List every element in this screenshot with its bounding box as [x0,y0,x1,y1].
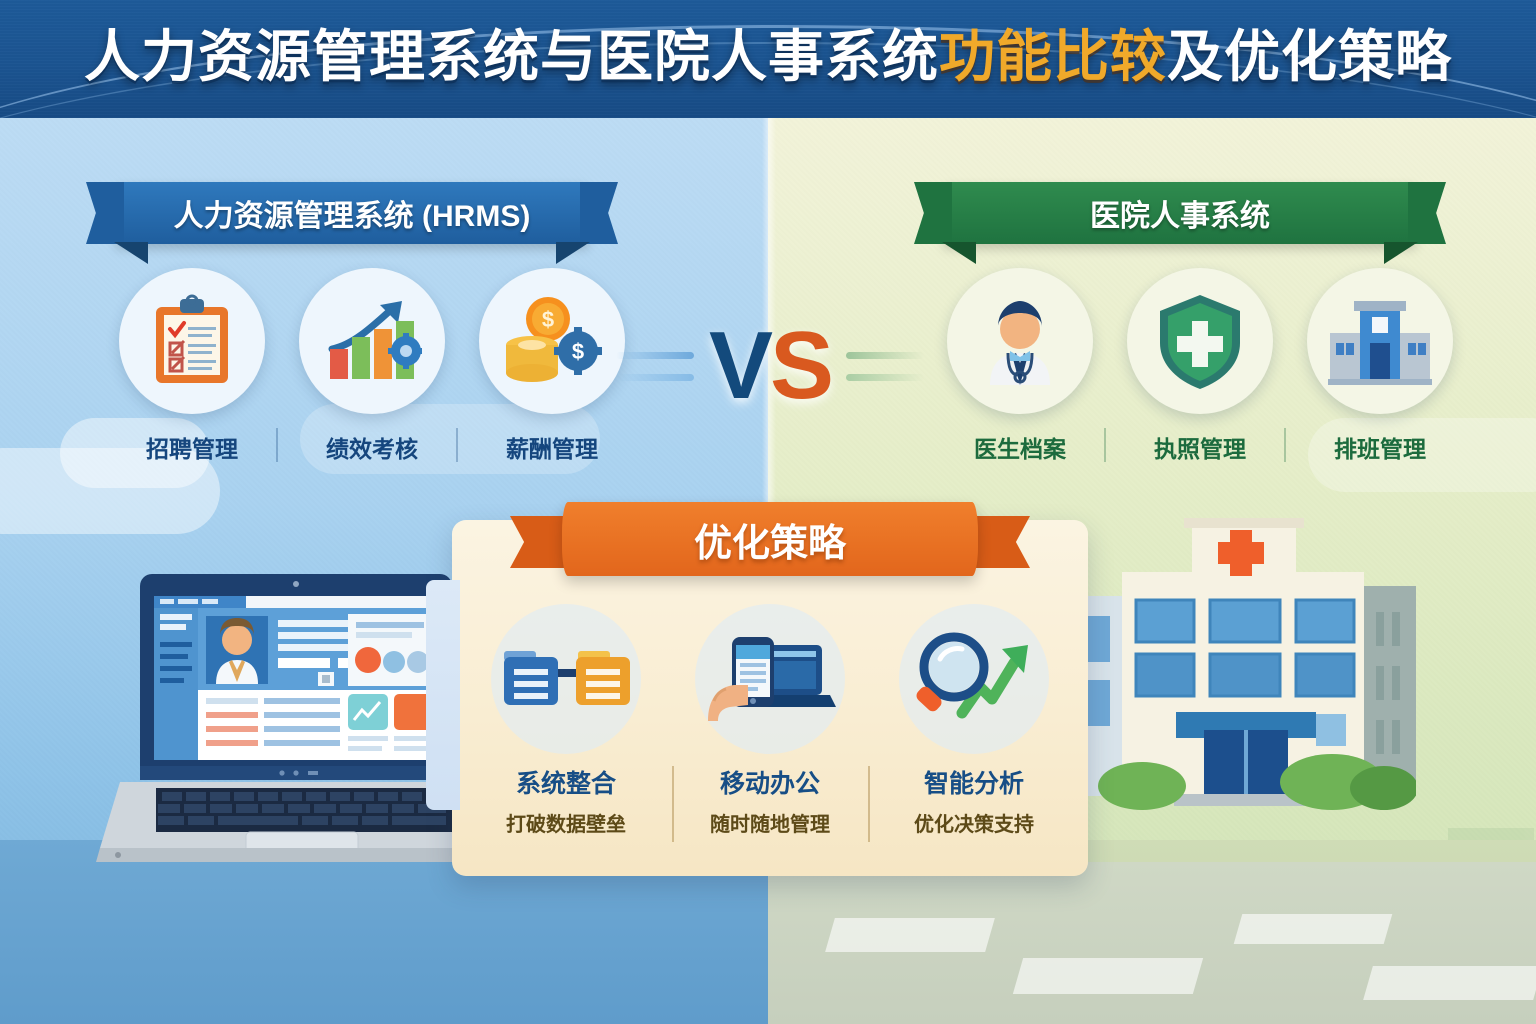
optimization-item-subtitle: 随时随地管理 [710,808,830,837]
right-feature-scheduling[interactable]: 排班管理 [1304,268,1456,464]
right-feature-doctor-file[interactable]: 医生档案 [944,268,1096,464]
optimization-item-subtitle: 优化决策支持 [914,808,1034,837]
left-feature-label: 薪酬管理 [506,430,598,464]
right-panel-ribbon-label: 医院人事系统 [1090,191,1270,235]
vs-line-left [616,374,694,381]
left-feature-label: 招聘管理 [146,430,238,464]
optimization-item-title: 系统整合 [516,764,616,800]
optimization-item-analytics[interactable]: 智能分析 优化决策支持 [878,604,1070,837]
vs-line-right [846,352,924,359]
vs-letter-v: V [709,312,770,419]
crosswalk-stripe [825,918,995,952]
left-feature-row: 招聘管理 绩效考核 [116,268,628,464]
shield-medical-cross-icon [1127,268,1273,414]
optimization-divider [672,766,674,842]
right-feature-label: 排班管理 [1334,430,1426,464]
left-feature-compensation[interactable]: $ $ 薪酬管理 [476,268,628,464]
crosswalk-stripe [1013,958,1203,994]
svg-text:$: $ [572,339,584,364]
svg-text:$: $ [542,307,554,332]
left-feature-performance[interactable]: 绩效考核 [296,268,448,464]
optimization-ribbon-band: 优化策略 [562,502,978,576]
doctor-avatar-icon [947,268,1093,414]
road-surface [768,862,1536,1024]
left-divider [276,428,278,462]
left-divider [456,428,458,462]
optimization-item-title: 智能分析 [924,764,1024,800]
hospital-building-illustration [1064,516,1416,848]
left-panel-ribbon: 人力资源管理系统 (HRMS) [116,182,588,244]
page-title-part-2: 及优化策略 [1167,25,1452,88]
bar-chart-gear-icon [299,268,445,414]
right-divider [1104,428,1106,462]
linked-folders-icon [491,604,641,754]
vs-badge: VS [690,318,850,414]
optimization-item-title: 移动办公 [720,764,820,800]
right-feature-label: 医生档案 [974,430,1066,464]
optimization-ribbon: 优化策略 [506,494,1034,580]
page-title-part-1: 人力资源管理系统与医院人事系统 [84,25,939,88]
magnifier-growth-arrow-icon [899,604,1049,754]
right-feature-label: 执照管理 [1154,430,1246,464]
optimization-item-subtitle: 打破数据壁垒 [506,808,626,837]
page-title: 人力资源管理系统与医院人事系统功能比较及优化策略 [0,26,1536,88]
coins-dollar-gear-icon: $ $ [479,268,625,414]
vs-line-left [616,352,694,359]
vs-letter-s: S [770,312,831,419]
hand-phone-laptop-icon [695,604,845,754]
crosswalk-stripe [1234,914,1393,944]
clipboard-checklist-icon [119,268,265,414]
left-feature-label: 绩效考核 [326,430,418,464]
hospital-building-icon [1307,268,1453,414]
left-feature-recruitment[interactable]: 招聘管理 [116,268,268,464]
vs-line-right [846,374,924,381]
infographic-canvas: 人力资源管理系统与医院人事系统功能比较及优化策略 [0,0,1536,1024]
left-panel-ribbon-label: 人力资源管理系统 (HRMS) [174,191,531,235]
right-divider [1284,428,1286,462]
header-band: 人力资源管理系统与医院人事系统功能比较及优化策略 [0,0,1536,118]
right-panel-ribbon: 医院人事系统 [944,182,1416,244]
optimization-ribbon-label: 优化策略 [694,512,846,567]
right-feature-license[interactable]: 执照管理 [1124,268,1276,464]
optimization-item-integration[interactable]: 系统整合 打破数据壁垒 [470,604,662,837]
crosswalk-stripe [1363,966,1536,1000]
optimization-item-mobile[interactable]: 移动办公 随时随地管理 [674,604,866,837]
optimization-items-row: 系统整合 打破数据壁垒 移 [470,604,1070,837]
optimization-divider [868,766,870,842]
right-feature-row: 医生档案 执照管理 [944,268,1456,464]
page-title-highlight: 功能比较 [939,25,1167,88]
